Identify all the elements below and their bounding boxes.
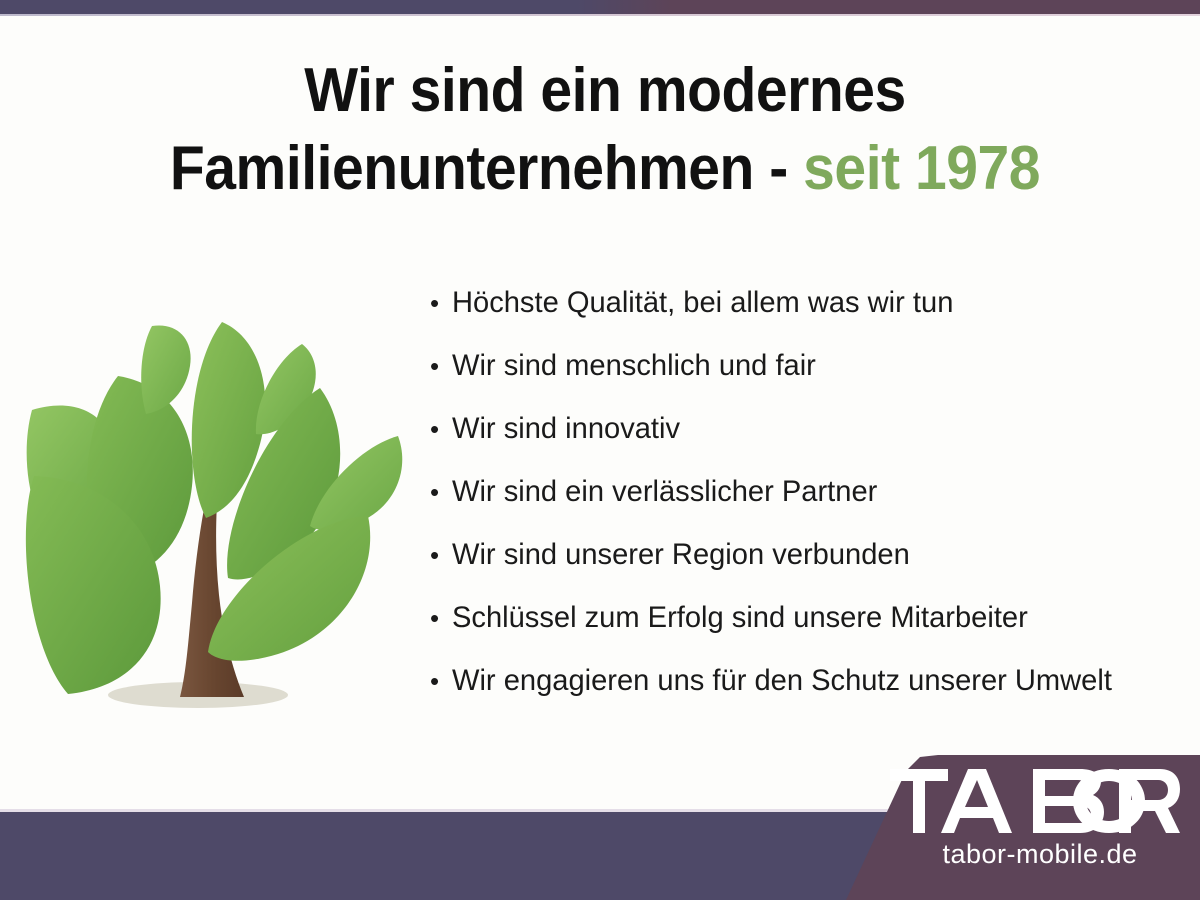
list-item: • Wir sind innovativ: [424, 412, 1184, 475]
slide-root: Wir sind ein modernes Familienunternehme…: [0, 0, 1200, 900]
brand-logo-block: tabor-mobile.de: [838, 755, 1200, 900]
list-item: • Schlüssel zum Erfolg sind unsere Mitar…: [424, 601, 1184, 664]
bullet-marker-icon: •: [424, 542, 452, 568]
top-bar-hairline: [0, 14, 1200, 16]
bullet-marker-icon: •: [424, 353, 452, 379]
headline-line-1: Wir sind ein modernes: [104, 52, 1107, 130]
bullet-marker-icon: •: [424, 416, 452, 442]
bullet-marker-icon: •: [424, 668, 452, 694]
page-title: Wir sind ein modernes Familienunternehme…: [104, 52, 1107, 208]
tree-leaf-3: [141, 325, 190, 414]
list-item: • Wir engagieren uns für den Schutz unse…: [424, 664, 1184, 727]
list-item-label: Wir sind menschlich und fair: [452, 349, 816, 383]
tree-illustration: [20, 298, 420, 718]
tabor-wordmark: [890, 769, 1180, 833]
list-item: • Höchste Qualität, bei allem was wir tu…: [424, 286, 1184, 349]
list-item-label: Schlüssel zum Erfolg sind unsere Mitarbe…: [452, 601, 1028, 635]
list-item: • Wir sind menschlich und fair: [424, 349, 1184, 412]
bullet-marker-icon: •: [424, 605, 452, 631]
headline-accent: seit 1978: [803, 134, 1040, 203]
list-item-label: Wir sind ein verlässlicher Partner: [452, 475, 877, 509]
logo-url-label: tabor-mobile.de: [890, 839, 1190, 869]
top-accent-bar: [0, 0, 1200, 14]
headline-line-2: Familienunternehmen - seit 1978: [104, 130, 1107, 208]
bullet-list: • Höchste Qualität, bei allem was wir tu…: [424, 286, 1184, 727]
list-item: • Wir sind ein verlässlicher Partner: [424, 475, 1184, 538]
headline-line-2-plain: Familienunternehmen -: [170, 134, 803, 203]
bullet-marker-icon: •: [424, 479, 452, 505]
list-item-label: Wir engagieren uns für den Schutz unsere…: [452, 664, 1112, 698]
list-item-label: Wir sind innovativ: [452, 412, 680, 446]
list-item: • Wir sind unserer Region verbunden: [424, 538, 1184, 601]
list-item-label: Wir sind unserer Region verbunden: [452, 538, 910, 572]
list-item-label: Höchste Qualität, bei allem was wir tun: [452, 286, 953, 320]
bullet-marker-icon: •: [424, 290, 452, 316]
